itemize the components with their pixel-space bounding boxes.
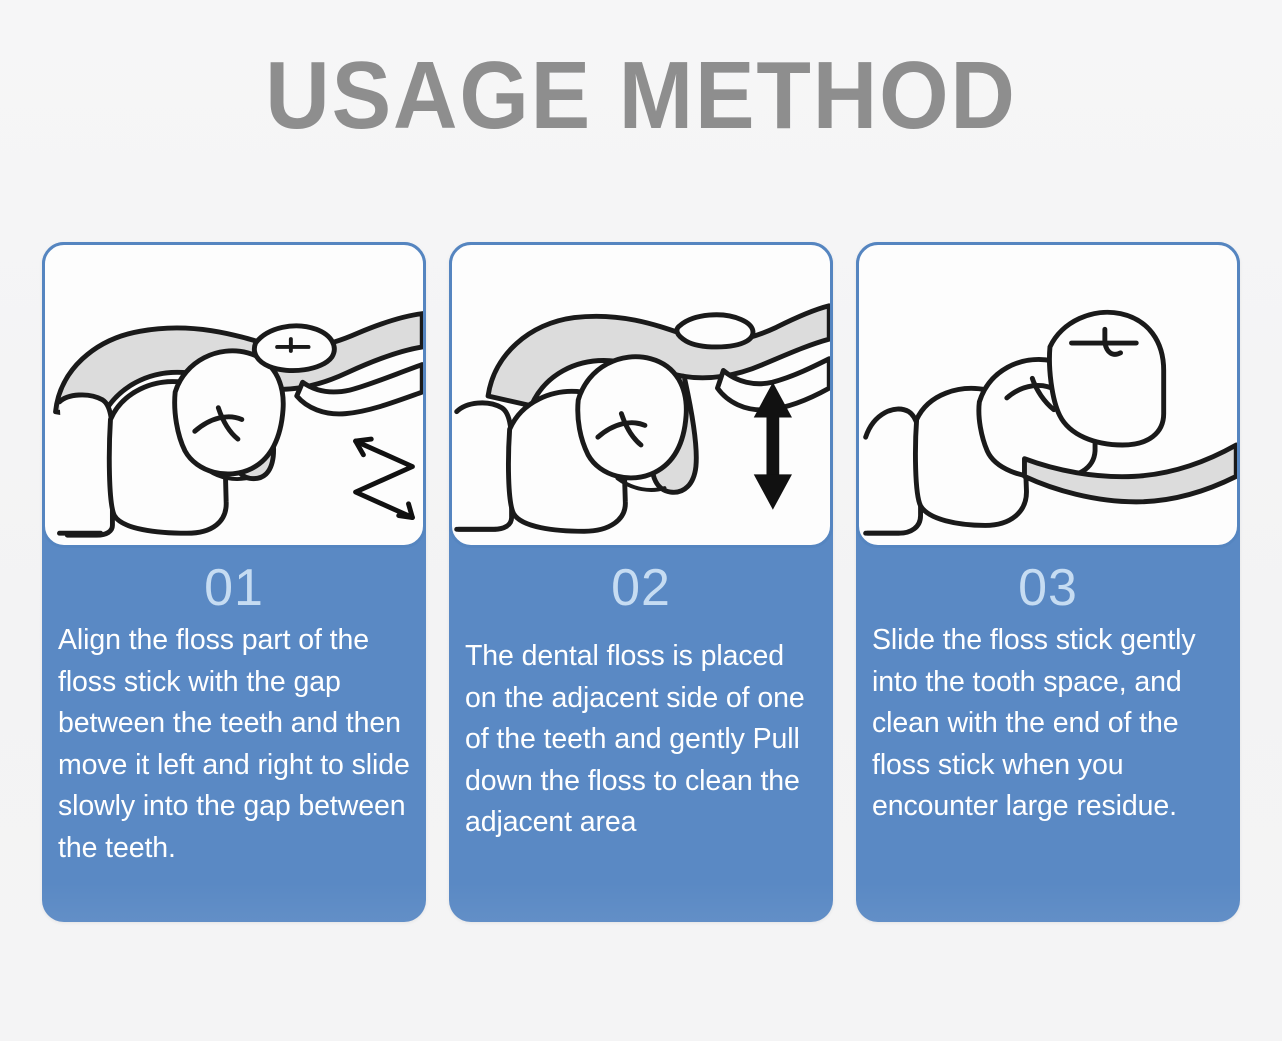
illustration-panel-02: [449, 242, 833, 548]
step-number-01: 01: [42, 548, 426, 614]
floss-on-adjacent-tooth-icon: [452, 245, 830, 545]
steps-row: 01 Align the floss part of the floss sti…: [42, 242, 1240, 922]
illustration-panel-03: [856, 242, 1240, 548]
step-number-02: 02: [449, 548, 833, 614]
step-description-01: Align the floss part of the floss stick …: [42, 614, 426, 880]
step-card-03[interactable]: 03 Slide the floss stick gently into the…: [856, 242, 1240, 922]
floss-stick-between-teeth-icon: [45, 245, 423, 545]
zigzag-double-arrow-icon: [356, 439, 413, 517]
step-card-01[interactable]: 01 Align the floss part of the floss sti…: [42, 242, 426, 922]
step-description-03: Slide the floss stick gently into the to…: [856, 614, 1240, 838]
step-card-02[interactable]: 02 The dental floss is placed on the adj…: [449, 242, 833, 922]
illustration-panel-01: [42, 242, 426, 548]
floss-stick-end-cleaning-icon: [859, 245, 1237, 545]
step-description-02: The dental floss is placed on the adjace…: [449, 614, 833, 854]
step-number-03: 03: [856, 548, 1240, 614]
page-title: USAGE METHOD: [45, 46, 1237, 147]
poster-root: USAGE METHOD: [0, 0, 1282, 1041]
